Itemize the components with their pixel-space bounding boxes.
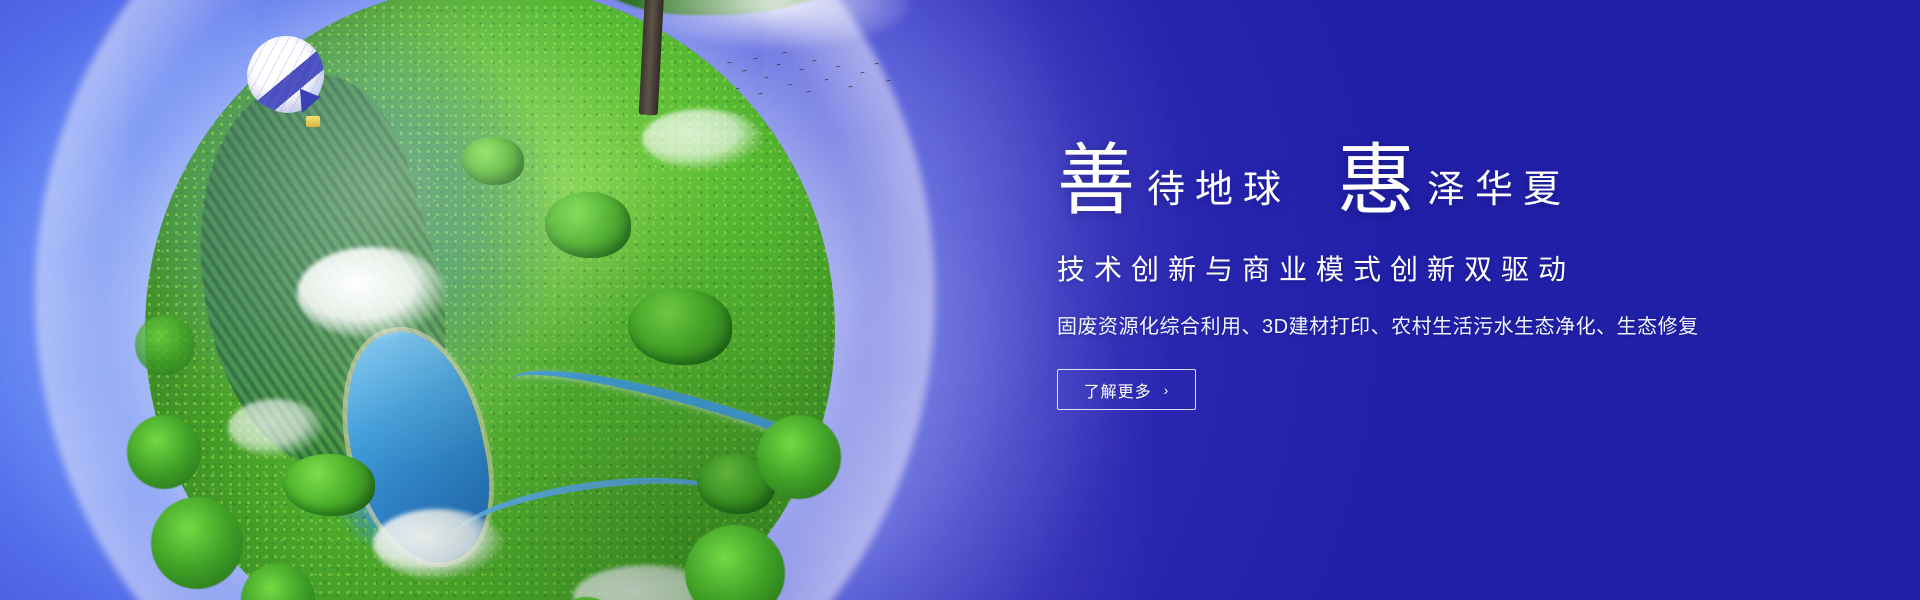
hero-banner: 善 待地球 惠 泽华夏 技术创新与商业模式创新双驱动 固废资源化综合利用、3D建… bbox=[0, 0, 1920, 600]
bush-icon bbox=[545, 192, 631, 258]
edge-tree-icon bbox=[151, 497, 243, 589]
hero-tree-icon bbox=[600, 0, 930, 135]
banner-description: 固废资源化综合利用、3D建材打印、农村生活污水生态净化、生态修复 bbox=[1057, 310, 1817, 339]
headline-brush-char-2: 惠 bbox=[1337, 142, 1415, 220]
learn-more-label: 了解更多 bbox=[1084, 378, 1152, 402]
page-title: 善 待地球 惠 泽华夏 bbox=[1057, 136, 1817, 214]
edge-tree-icon bbox=[127, 415, 201, 489]
bush-icon bbox=[628, 289, 732, 365]
banner-content: 善 待地球 惠 泽华夏 技术创新与商业模式创新双驱动 固废资源化综合利用、3D建… bbox=[1057, 136, 1817, 410]
headline-sub-2: 泽华夏 bbox=[1427, 170, 1571, 208]
lake-icon bbox=[329, 319, 506, 576]
edge-tree-icon bbox=[135, 315, 195, 375]
headline-sub-1: 待地球 bbox=[1147, 170, 1291, 208]
balloon-envelope bbox=[237, 25, 336, 124]
balloon-basket bbox=[306, 116, 320, 127]
edge-tree-icon bbox=[757, 415, 841, 499]
surface-cloud bbox=[297, 247, 447, 339]
headline-brush-char-1: 善 bbox=[1057, 142, 1135, 220]
banner-subtitle: 技术创新与商业模式创新双驱动 bbox=[1057, 248, 1817, 288]
surface-cloud bbox=[373, 509, 503, 579]
bush-icon bbox=[462, 137, 524, 185]
learn-more-button[interactable]: 了解更多 › bbox=[1057, 369, 1196, 410]
surface-cloud bbox=[228, 399, 324, 457]
tree-trunk bbox=[639, 0, 665, 115]
tree-mist bbox=[640, 0, 910, 48]
hot-air-balloon-icon bbox=[248, 36, 334, 134]
bush-icon bbox=[283, 454, 375, 516]
chevron-right-icon: › bbox=[1164, 383, 1170, 397]
